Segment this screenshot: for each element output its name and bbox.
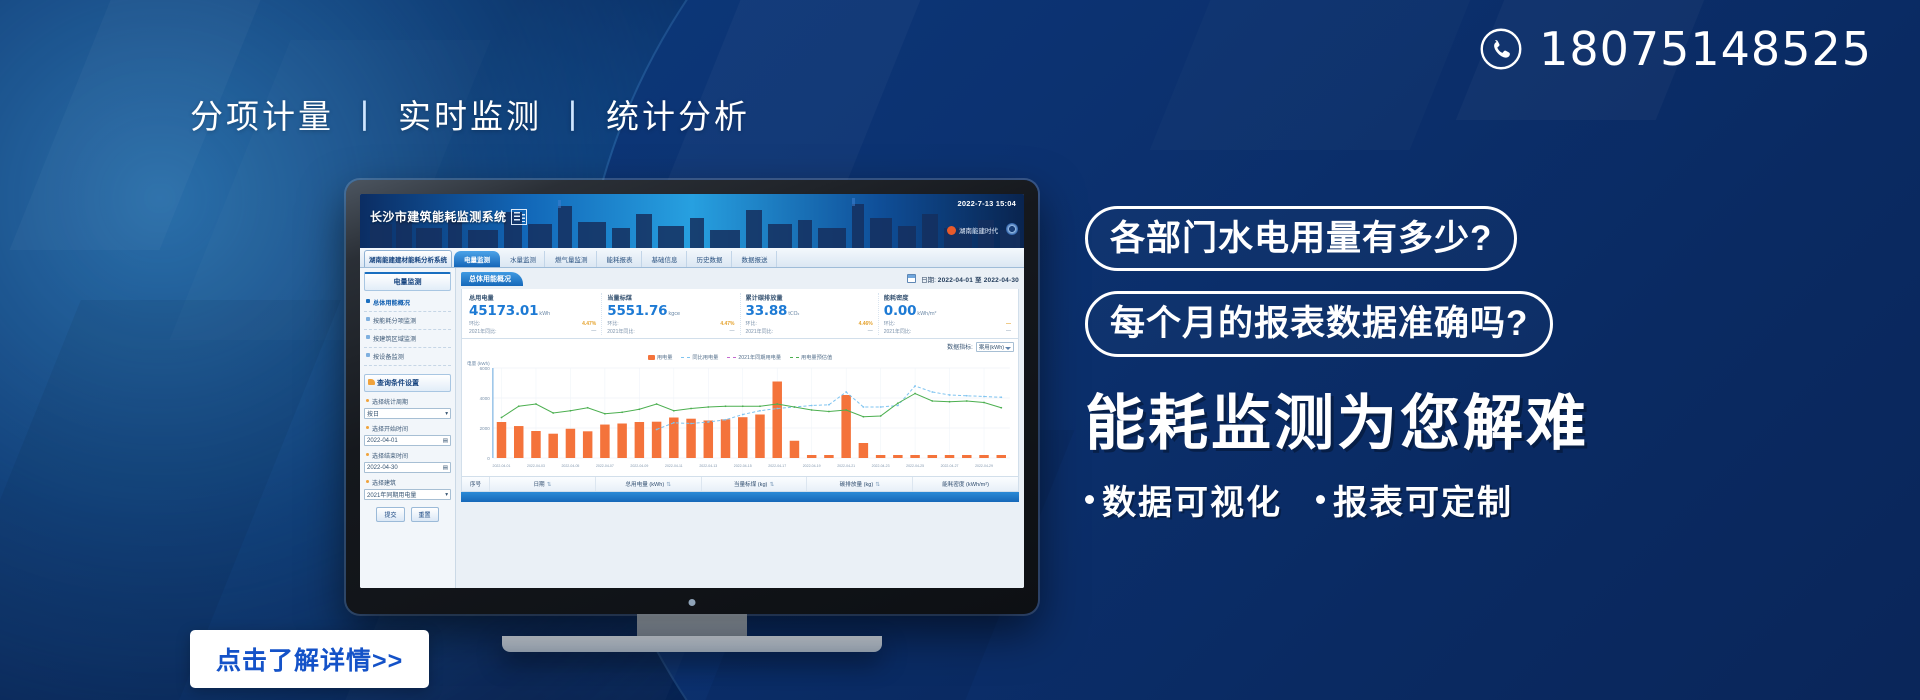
tagline-item-3: 统计分析 (606, 90, 750, 138)
question-pill-1: 各部门水电用量有多少? (1085, 206, 1517, 271)
date-label: 日期: (921, 277, 936, 284)
headline: 能耗监测为您解难 (1085, 391, 1725, 457)
col-序号: 序号 (462, 477, 490, 491)
legend-item-2021年同期用电量[interactable]: 2021年同期用电量 (727, 354, 781, 361)
filter-label-start: 选择开始时间 (366, 424, 451, 433)
legend-line-icon (681, 357, 690, 358)
sidebar-item-总体用能概况[interactable]: 总体用能概况 (364, 294, 451, 312)
svg-text:2022-04-25: 2022-04-25 (906, 464, 924, 468)
marketing-copy: 各部门水电用量有多少? 每个月的报表数据准确吗? 能耗监测为您解难 数据可视化 … (1085, 206, 1725, 524)
legend-line-icon (790, 357, 799, 358)
kpi-number: 0.00 (884, 303, 917, 319)
col-当量标煤[interactable]: 当量标煤 (kg)⇅ (702, 477, 808, 491)
svg-text:2022-04-07: 2022-04-07 (596, 464, 614, 468)
building-icon (511, 209, 527, 225)
app-datetime: 2022-7-13 15:04 (958, 199, 1016, 208)
legend-label: 用电量 (657, 354, 673, 361)
bullet-icon (1316, 495, 1325, 504)
svg-text:2022-04-17: 2022-04-17 (768, 464, 786, 468)
energy-chart: 02000400060002022-04-012022-04-032022-04… (466, 362, 1014, 474)
svg-text:2022-04-11: 2022-04-11 (665, 464, 683, 468)
kpi-card: 累计碳排放量 33.88tCO₂ 环比: 4.46% 2021年同比: (741, 293, 879, 335)
kpi-compare-label: 环比: (884, 320, 895, 327)
tab-燃气量监测[interactable]: 燃气量监测 (547, 251, 597, 267)
tab-基础信息[interactable]: 基础信息 (644, 251, 687, 267)
sidebar-item-按建筑区域监测[interactable]: 按建筑区域监测 (364, 330, 451, 348)
app-header: 长沙市建筑能耗监测系统 2022-7-13 15:04 湖南能建时代 (360, 194, 1024, 248)
app-user-name: 湖南能建时代 (959, 225, 998, 235)
col-label: 碳排放量 (kg) (840, 482, 874, 488)
kpi-yoy-value: — (1006, 328, 1011, 335)
chevron-down-icon: ▾ (445, 492, 448, 498)
tab-历史数据[interactable]: 历史数据 (689, 251, 732, 267)
svg-text:0: 0 (487, 456, 490, 461)
main-content: 总体用能概况 日期: 2022-04-01 至 2022-04-30 总用电量 (456, 268, 1024, 588)
tab-水量监测[interactable]: 水量监测 (502, 251, 545, 267)
tagline-separator: 丨 (556, 90, 592, 138)
kpi-compare-label: 环比: (607, 320, 618, 327)
kpi-compare-label: 环比: (746, 320, 757, 327)
kpi-cards: 总用电量 45173.01kWh 环比: 4.47% 2021年同比: (461, 289, 1019, 339)
svg-text:2022-04-29: 2022-04-29 (975, 464, 993, 468)
kpi-number: 45173.01 (469, 303, 538, 319)
svg-text:2022-04-05: 2022-04-05 (561, 464, 579, 468)
legend-swatch-icon (648, 355, 655, 360)
chart-y-axis-label: 电量 (kWh) (467, 361, 490, 367)
kpi-yoy: 2021年同比: — (607, 328, 734, 335)
kpi-yoy: 2021年同比: — (746, 328, 873, 335)
chart-plot-area: 电量 (kWh) 02000400060002022-04-012022-04-… (466, 362, 1014, 474)
kpi-compare: 环比: — (884, 320, 1011, 327)
tagline-separator: 丨 (348, 90, 384, 138)
panel-header-row: 总体用能概况 日期: 2022-04-01 至 2022-04-30 (461, 272, 1019, 286)
filter-label-building: 选择建筑 (366, 478, 451, 487)
sort-icon: ⇅ (769, 482, 774, 488)
legend-label: 2021年同期用电量 (738, 354, 781, 361)
kpi-value: 33.88tCO₂ (746, 304, 873, 318)
sidebar: 电量监测 总体用能概况 按能耗分项监测 按建筑区域监测 按设备监测 查询条件设置… (360, 268, 456, 588)
monitor-stand-base (502, 636, 882, 652)
phone-number: 18075148525 (1539, 26, 1872, 72)
bullet-icon (1085, 495, 1094, 504)
filter-label-end: 选择结束时间 (366, 451, 451, 460)
data-table-header: 序号 日期⇅ 总用电量 (kWh)⇅ 当量标煤 (kg)⇅ 碳排放量 (kg)⇅… (461, 477, 1019, 492)
legend-item-用电量预估值[interactable]: 用电量预估值 (790, 354, 832, 361)
promo-banner: 18075148525 分项计量 丨 实时监测 丨 统计分析 (0, 0, 1920, 700)
kpi-yoy-value: — (730, 328, 735, 335)
app-body: 电量监测 总体用能概况 按能耗分项监测 按建筑区域监测 按设备监测 查询条件设置… (360, 268, 1024, 588)
nav-tabs: 湖南能建建材能耗分析系统 电量监测 水量监测 燃气量监测 能耗报表 基础信息 历… (360, 248, 1024, 268)
kpi-card: 能耗密度 0.00kWh/m² 环比: — 2021年同比: (879, 293, 1016, 335)
col-总用电量[interactable]: 总用电量 (kWh)⇅ (596, 477, 702, 491)
date-range-value: 2022-04-01 至 2022-04-30 (938, 277, 1019, 284)
tab-能耗报表[interactable]: 能耗报表 (599, 251, 642, 267)
tab-电量监测[interactable]: 电量监测 (454, 251, 500, 267)
kpi-name: 能耗密度 (884, 293, 1011, 302)
calendar-icon: ▤ (443, 465, 448, 471)
gear-icon[interactable] (1006, 223, 1018, 235)
monitor-screen: 长沙市建筑能耗监测系统 2022-7-13 15:04 湖南能建时代 湖南能建建… (360, 194, 1024, 588)
kpi-value: 0.00kWh/m² (884, 304, 1011, 318)
svg-text:2022-04-09: 2022-04-09 (630, 464, 648, 468)
feature-list: 数据可视化 报表可定制 (1085, 475, 1725, 524)
svg-text:2022-04-19: 2022-04-19 (803, 464, 821, 468)
sidebar-header: 电量监测 (364, 272, 451, 291)
kpi-yoy-value: — (868, 328, 873, 335)
chart-metric-label: 数据指标: (947, 342, 973, 352)
app-user[interactable]: 湖南能建时代 (947, 225, 998, 235)
kpi-number: 5551.76 (607, 303, 667, 319)
chart-metric-selector-row: 数据指标: 案用(kWh) (466, 342, 1014, 352)
reset-button[interactable]: 重置 (411, 507, 439, 522)
monitor-stand-neck (637, 614, 747, 636)
kpi-name: 累计碳排放量 (746, 293, 873, 302)
kpi-unit: tCO₂ (788, 311, 799, 317)
svg-text:2022-04-15: 2022-04-15 (734, 464, 752, 468)
legend-item-用电量[interactable]: 用电量 (648, 354, 673, 361)
kpi-unit: kgce (668, 311, 680, 317)
sort-icon: ⇅ (875, 482, 880, 488)
kpi-compare-value: 4.47% (582, 321, 596, 327)
table-footer-strip (461, 492, 1019, 502)
col-label: 当量标煤 (kg) (734, 482, 768, 488)
feature-label: 报表可定制 (1333, 475, 1513, 524)
filter-value-building: 2021年同期用电量 (367, 490, 416, 499)
sort-icon: ⇅ (666, 482, 671, 488)
col-日期[interactable]: 日期⇅ (490, 477, 596, 491)
svg-text:2022-04-01: 2022-04-01 (493, 464, 511, 468)
contact-phone[interactable]: 18075148525 (1479, 26, 1872, 72)
filter-date-end[interactable]: 2022-04-30 ▤ (364, 462, 451, 473)
col-label: 能耗密度 (kWh/m²) (942, 482, 989, 488)
chevron-down-icon: ▾ (445, 411, 448, 417)
nav-home-tab[interactable]: 湖南能建建材能耗分析系统 (364, 250, 452, 267)
kpi-unit: kWh (539, 311, 550, 317)
legend-item-同比用电量[interactable]: 同比用电量 (681, 354, 718, 361)
kpi-name: 总用电量 (469, 293, 596, 302)
kpi-yoy-label: 2021年同比: (607, 328, 635, 335)
tagline-item-1: 分项计量 (190, 90, 334, 138)
cta-button[interactable]: 点击了解详情>> (190, 630, 429, 688)
kpi-number: 33.88 (746, 303, 788, 319)
chart-panel: 数据指标: 案用(kWh) 用电量 同比用电量 (461, 339, 1019, 477)
tagline: 分项计量 丨 实时监测 丨 统计分析 (190, 90, 750, 138)
kpi-yoy: 2021年同比: — (884, 328, 1011, 335)
kpi-value: 45173.01kWh (469, 304, 596, 318)
filter-buttons: 提交 重置 (364, 507, 451, 522)
filter-label-period: 选择统计周期 (366, 397, 451, 406)
svg-text:4000: 4000 (480, 396, 491, 401)
calendar-icon (907, 274, 916, 283)
svg-text:2022-04-23: 2022-04-23 (872, 464, 890, 468)
kpi-card: 当量标煤 5551.76kgce 环比: 4.47% 2021年同比: (602, 293, 740, 335)
kpi-yoy-label: 2021年同比: (746, 328, 774, 335)
kpi-yoy-value: — (591, 328, 596, 335)
kpi-compare-value: 4.46% (859, 321, 873, 327)
app-title: 长沙市建筑能耗监测系统 (370, 208, 527, 225)
filter-select-building[interactable]: 2021年同期用电量 ▾ (364, 489, 451, 500)
svg-text:2022-04-27: 2022-04-27 (941, 464, 959, 468)
kpi-name: 当量标煤 (607, 293, 734, 302)
filter-date-start[interactable]: 2022-04-01 ▤ (364, 435, 451, 446)
sidebar-item-按设备监测[interactable]: 按设备监测 (364, 348, 451, 366)
feature-label: 数据可视化 (1102, 475, 1282, 524)
col-label: 总用电量 (kWh) (625, 482, 664, 488)
app-title-text: 长沙市建筑能耗监测系统 (370, 208, 506, 225)
svg-text:2000: 2000 (480, 426, 491, 431)
submit-button[interactable]: 提交 (376, 507, 404, 522)
kpi-compare: 环比: 4.47% (469, 320, 596, 327)
svg-text:2022-04-13: 2022-04-13 (699, 464, 717, 468)
filter-select-period[interactable]: 按日 ▾ (364, 408, 451, 419)
kpi-compare: 环比: 4.46% (746, 320, 873, 327)
kpi-compare: 环比: 4.47% (607, 320, 734, 327)
kpi-yoy: 2021年同比: — (469, 328, 596, 335)
date-range-display: 日期: 2022-04-01 至 2022-04-30 (907, 274, 1019, 284)
kpi-value: 5551.76kgce (607, 304, 734, 318)
feature-item-2: 报表可定制 (1316, 475, 1513, 524)
kpi-unit: kWh/m² (917, 311, 936, 317)
question-pill-2: 每个月的报表数据准确吗? (1085, 291, 1553, 356)
tagline-item-2: 实时监测 (398, 90, 542, 138)
chart-legend: 用电量 同比用电量 2021年同期用电量 (466, 354, 1014, 361)
kpi-yoy-label: 2021年同比: (884, 328, 912, 335)
kpi-compare-value: — (1006, 321, 1011, 327)
calendar-icon: ▤ (443, 438, 448, 444)
sort-icon: ⇅ (547, 482, 552, 488)
filter-value-end: 2022-04-30 (367, 465, 398, 471)
phone-icon (1479, 27, 1523, 71)
col-碳排放量[interactable]: 碳排放量 (kg)⇅ (807, 477, 913, 491)
kpi-compare-value: 4.47% (720, 321, 734, 327)
filter-value-period: 按日 (367, 409, 379, 418)
svg-text:2022-04-03: 2022-04-03 (527, 464, 545, 468)
filter-panel-header: 查询条件设置 (364, 374, 451, 392)
svg-text:2022-04-21: 2022-04-21 (837, 464, 855, 468)
legend-line-icon (727, 357, 736, 358)
legend-label: 用电量预估值 (801, 354, 832, 361)
monitor-mockup: 长沙市建筑能耗监测系统 2022-7-13 15:04 湖南能建时代 湖南能建建… (346, 180, 1038, 652)
user-icon (947, 226, 956, 235)
sidebar-item-按能耗分项监测[interactable]: 按能耗分项监测 (364, 312, 451, 330)
col-能耗密度[interactable]: 能耗密度 (kWh/m²) (913, 477, 1018, 491)
monitor-bezel: 长沙市建筑能耗监测系统 2022-7-13 15:04 湖南能建时代 湖南能建建… (346, 180, 1038, 614)
kpi-yoy-label: 2021年同比: (469, 328, 497, 335)
filter-value-start: 2022-04-01 (367, 438, 398, 444)
tab-数据报送[interactable]: 数据报送 (734, 251, 777, 267)
kpi-compare-label: 环比: (469, 320, 480, 327)
panel-tab-overview[interactable]: 总体用能概况 (461, 272, 523, 286)
legend-label: 同比用电量 (692, 354, 718, 361)
kpi-card: 总用电量 45173.01kWh 环比: 4.47% 2021年同比: (464, 293, 602, 335)
chart-metric-select[interactable]: 案用(kWh) (976, 342, 1014, 352)
feature-item-1: 数据可视化 (1085, 475, 1282, 524)
col-label: 日期 (533, 482, 544, 488)
